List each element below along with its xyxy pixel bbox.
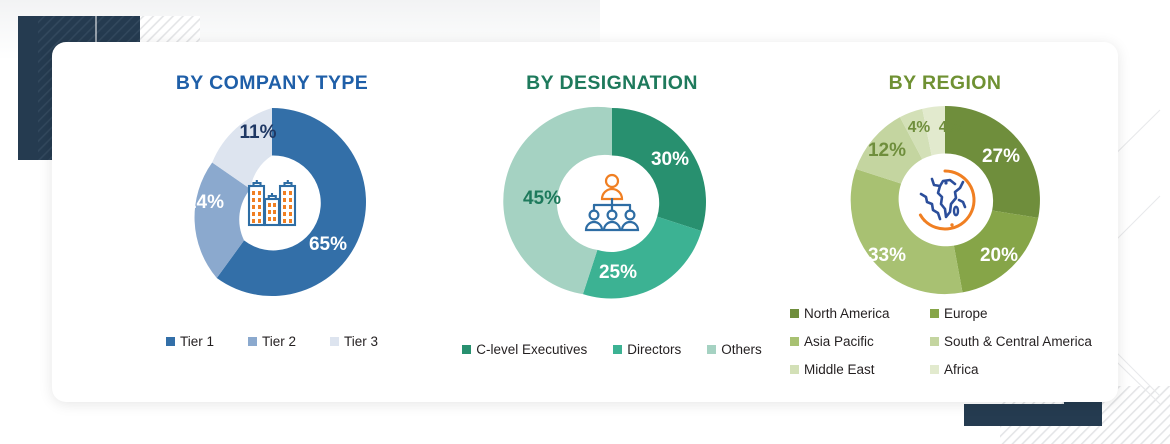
- slice-label-c-level: 30%: [651, 149, 689, 170]
- legend-item-asia-pacific[interactable]: Asia Pacific: [790, 334, 930, 349]
- panel-title-region: BY REGION: [772, 72, 1118, 95]
- slice-label-africa: 4%: [939, 119, 962, 136]
- donut-chart-designation: 30% 25% 45%: [510, 100, 714, 304]
- panel-company-type: BY COMPANY TYPE 65% 24% 11%: [92, 42, 452, 402]
- legend-designation: C-level Executives Directors Others: [432, 342, 792, 357]
- legend-label-tier-3: Tier 3: [344, 334, 378, 349]
- legend-swatch-asia-pacific: [790, 337, 799, 346]
- legend-item-south-central-america[interactable]: South & Central America: [930, 334, 1100, 349]
- legend-swatch-tier-3: [330, 337, 339, 346]
- slice-label-middle-east: 4%: [908, 119, 931, 136]
- slice-label-asia-pacific: 33%: [868, 245, 906, 266]
- infographic-card: BY COMPANY TYPE 65% 24% 11%: [52, 42, 1118, 402]
- legend-region: North America Europe Asia Pacific South …: [790, 306, 1100, 377]
- legend-swatch-directors: [613, 345, 622, 354]
- legend-swatch-south-central-america: [930, 337, 939, 346]
- legend-swatch-africa: [930, 365, 939, 374]
- legend-label-directors: Directors: [627, 342, 681, 357]
- panel-title-company-type: BY COMPANY TYPE: [92, 72, 452, 95]
- legend-swatch-others: [707, 345, 716, 354]
- legend-item-directors[interactable]: Directors: [613, 342, 681, 357]
- panel-region: BY REGION 27% 20% 33% 12% 4% 4: [772, 42, 1118, 402]
- legend-label-europe: Europe: [944, 306, 988, 321]
- slice-label-south-central-america: 12%: [868, 140, 906, 161]
- slice-label-directors: 25%: [599, 262, 637, 283]
- panel-designation: BY DESIGNATION 30% 25% 45%: [432, 42, 792, 402]
- legend-label-tier-1: Tier 1: [180, 334, 214, 349]
- legend-item-tier-1[interactable]: Tier 1: [166, 334, 214, 349]
- legend-label-south-central-america: South & Central America: [944, 334, 1092, 349]
- slice-label-tier-1: 65%: [309, 234, 347, 255]
- donut-chart-region: 27% 20% 33% 12% 4% 4%: [843, 98, 1047, 302]
- legend-label-others: Others: [721, 342, 762, 357]
- legend-label-asia-pacific: Asia Pacific: [804, 334, 874, 349]
- legend-item-others[interactable]: Others: [707, 342, 762, 357]
- legend-label-africa: Africa: [944, 362, 979, 377]
- legend-item-tier-2[interactable]: Tier 2: [248, 334, 296, 349]
- legend-swatch-tier-1: [166, 337, 175, 346]
- legend-swatch-tier-2: [248, 337, 257, 346]
- slice-label-north-america: 27%: [982, 146, 1020, 167]
- org-hierarchy-icon: [580, 172, 644, 232]
- globe-icon: [912, 167, 978, 233]
- slice-label-tier-2: 24%: [186, 192, 224, 213]
- panel-title-designation: BY DESIGNATION: [432, 72, 792, 95]
- legend-label-c-level: C-level Executives: [476, 342, 587, 357]
- legend-swatch-north-america: [790, 309, 799, 318]
- legend-swatch-europe: [930, 309, 939, 318]
- legend-company-type: Tier 1 Tier 2 Tier 3: [92, 334, 452, 349]
- legend-label-tier-2: Tier 2: [262, 334, 296, 349]
- office-buildings-icon: [242, 172, 302, 232]
- legend-label-middle-east: Middle East: [804, 362, 875, 377]
- legend-item-africa[interactable]: Africa: [930, 362, 1100, 377]
- legend-item-middle-east[interactable]: Middle East: [790, 362, 930, 377]
- legend-label-north-america: North America: [804, 306, 890, 321]
- legend-item-europe[interactable]: Europe: [930, 306, 1100, 321]
- slice-label-others: 45%: [523, 188, 561, 209]
- slice-label-europe: 20%: [980, 245, 1018, 266]
- legend-swatch-middle-east: [790, 365, 799, 374]
- legend-item-north-america[interactable]: North America: [790, 306, 930, 321]
- legend-swatch-c-level: [462, 345, 471, 354]
- legend-item-c-level[interactable]: C-level Executives: [462, 342, 587, 357]
- legend-item-tier-3[interactable]: Tier 3: [330, 334, 378, 349]
- donut-chart-company-type: 65% 24% 11%: [170, 100, 374, 304]
- slice-label-tier-3: 11%: [240, 122, 277, 143]
